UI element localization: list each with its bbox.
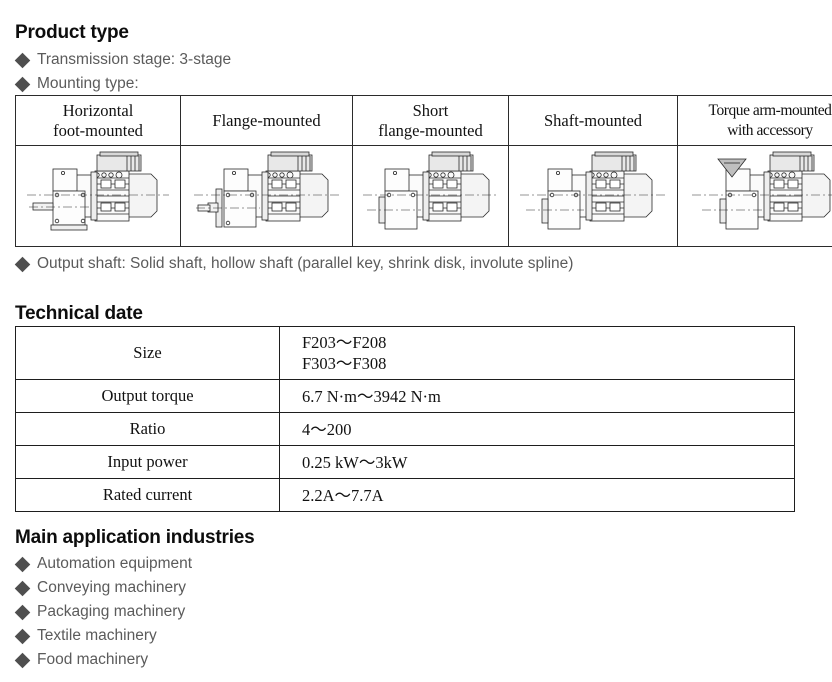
industry-label: Textile machinery [37, 624, 157, 648]
main-application-industries-list: Automation equipment Conveying machinery… [15, 552, 192, 672]
product-spec-page: Product type Transmission stage: 3-stage… [0, 0, 832, 682]
tech-label-size: Size [16, 327, 280, 380]
table-row: Input power 0.25 kW〜3kW [16, 446, 795, 479]
mounting-type-text: Mounting type: [37, 72, 139, 96]
transmission-stage-text: Transmission stage: 3-stage [37, 48, 231, 72]
mounting-header-cell-flange: Flange-mounted [181, 96, 353, 146]
mounting-header-line1: Torque arm-mounted [682, 101, 832, 121]
mounting-header-line2: foot-mounted [20, 121, 176, 141]
diamond-bullet-icon [15, 556, 31, 572]
tech-value-size: F203〜F208 F303〜F308 [280, 327, 795, 380]
list-item: Textile machinery [15, 624, 192, 648]
industry-label: Automation equipment [37, 552, 192, 576]
gearmotor-foot-mounted-drawing [23, 147, 173, 245]
diamond-bullet-icon [15, 76, 31, 92]
mounting-header-cell-short-flange: Short flange-mounted [353, 96, 509, 146]
table-row: Output torque 6.7 N·m〜3942 N·m [16, 380, 795, 413]
mounting-header-line1: Shaft-mounted [513, 111, 673, 131]
tech-value-output-torque: 6.7 N·m〜3942 N·m [280, 380, 795, 413]
diamond-bullet-icon [15, 628, 31, 644]
list-item: Conveying machinery [15, 576, 192, 600]
main-application-heading-wrap: Main application industries [15, 527, 255, 549]
mounting-type-image-row [16, 146, 832, 247]
industry-label: Packaging machinery [37, 600, 185, 624]
gearmotor-shaft-mounted-drawing [518, 147, 668, 245]
technical-date-heading-wrap: Technical date [15, 303, 143, 325]
mounting-header-cell-torque-arm: Torque arm-mounted with accessory [678, 96, 832, 146]
industry-label: Food machinery [37, 648, 148, 672]
list-item: Automation equipment [15, 552, 192, 576]
mounting-header-line1: Horizontal [20, 101, 176, 121]
diamond-bullet-icon [15, 256, 31, 272]
gearmotor-torque-arm-mounted-drawing [690, 147, 832, 245]
tech-label-input-power: Input power [16, 446, 280, 479]
mounting-header-cell-shaft: Shaft-mounted [509, 96, 678, 146]
tech-label-rated-current: Rated current [16, 479, 280, 512]
technical-date-heading: Technical date [15, 303, 143, 325]
gearmotor-flange-mounted-cell [181, 146, 353, 247]
mounting-header-line1: Short [357, 101, 504, 121]
mounting-header-line1: Flange-mounted [185, 111, 348, 131]
gearmotor-shaft-mounted-cell [509, 146, 678, 247]
mounting-type-table: Horizontal foot-mounted Flange-mounted S… [15, 95, 832, 247]
list-item: Food machinery [15, 648, 192, 672]
gearmotor-flange-mounted-drawing [192, 147, 342, 245]
product-type-bullet-1: Mounting type: [15, 72, 139, 96]
gearmotor-torque-arm-mounted-cell [678, 146, 832, 247]
diamond-bullet-icon [15, 580, 31, 596]
tech-value-rated-current: 2.2A〜7.7A [280, 479, 795, 512]
diamond-bullet-icon [15, 604, 31, 620]
table-row: Rated current 2.2A〜7.7A [16, 479, 795, 512]
mounting-header-line2: flange-mounted [357, 121, 504, 141]
mounting-header-cell-foot: Horizontal foot-mounted [16, 96, 181, 146]
diamond-bullet-icon [15, 52, 31, 68]
gearmotor-foot-mounted-cell [16, 146, 181, 247]
technical-data-table: Size F203〜F208 F303〜F308 Output torque 6… [15, 326, 795, 512]
output-shaft-bullet: Output shaft: Solid shaft, hollow shaft … [15, 252, 573, 276]
diamond-bullet-icon [15, 652, 31, 668]
mounting-type-header-row: Horizontal foot-mounted Flange-mounted S… [16, 96, 832, 146]
product-type-heading-wrap: Product type [15, 22, 129, 44]
table-row: Size F203〜F208 F303〜F308 [16, 327, 795, 380]
product-type-heading: Product type [15, 22, 129, 44]
tech-label-ratio: Ratio [16, 413, 280, 446]
main-application-industries-heading: Main application industries [15, 527, 255, 549]
product-type-bullet-0: Transmission stage: 3-stage [15, 48, 231, 72]
tech-value-ratio: 4〜200 [280, 413, 795, 446]
output-shaft-text: Output shaft: Solid shaft, hollow shaft … [37, 252, 573, 276]
industry-label: Conveying machinery [37, 576, 186, 600]
tech-label-output-torque: Output torque [16, 380, 280, 413]
gearmotor-short-flange-mounted-cell [353, 146, 509, 247]
mounting-header-line2: with accessory [682, 121, 832, 141]
gearmotor-short-flange-mounted-drawing [361, 147, 501, 245]
list-item: Packaging machinery [15, 600, 192, 624]
table-row: Ratio 4〜200 [16, 413, 795, 446]
tech-value-input-power: 0.25 kW〜3kW [280, 446, 795, 479]
tech-value-size-line1: F203〜F208 [302, 333, 386, 352]
tech-value-size-line2: F303〜F308 [302, 353, 793, 374]
